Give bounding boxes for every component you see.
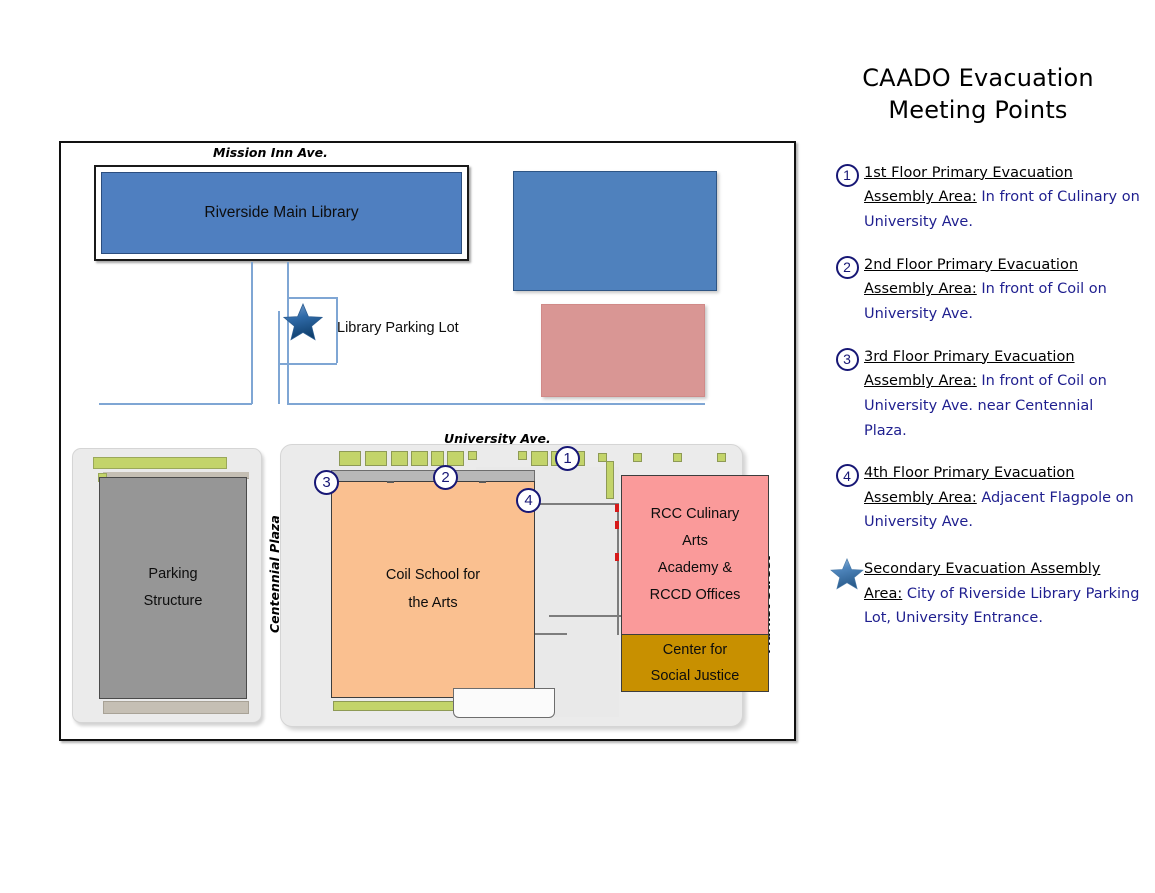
legend-number-2: 2 <box>836 256 859 279</box>
detail-tick <box>615 553 619 561</box>
parking-structure-label-line: Parking <box>148 561 197 588</box>
legend-body: City of Riverside Library Parking Lot, U… <box>864 586 1139 627</box>
planter-small <box>518 451 527 460</box>
library-parking-lot-label: Library Parking Lot <box>337 320 459 336</box>
path-line <box>278 311 280 404</box>
building-center-for-social-justice: Center for Social Justice <box>621 634 769 692</box>
planter-small <box>633 453 642 462</box>
planter-small <box>673 453 682 462</box>
planter-strip <box>411 451 428 466</box>
csj-label-line: Social Justice <box>651 663 740 689</box>
legend-text: 3rd Floor Primary Evacuation Assembly Ar… <box>864 345 1140 444</box>
legend-badge: 3 <box>830 345 864 371</box>
detail-tick <box>479 481 486 483</box>
legend-badge: 1 <box>830 161 864 187</box>
planter-small <box>717 453 726 462</box>
detail-tick <box>615 504 619 512</box>
legend-item-4[interactable]: 4 4th Floor Primary Evacuation Assembly … <box>820 461 1140 535</box>
culinary-label-line: Academy & <box>658 555 732 582</box>
planter-small <box>468 451 477 460</box>
library-label: Riverside Main Library <box>204 204 358 222</box>
legend-badge <box>830 557 864 590</box>
legend-title: CAADO Evacuation Meeting Points <box>820 50 1140 127</box>
courtyard-line <box>549 615 621 617</box>
path-line <box>287 297 337 299</box>
legend-item-2[interactable]: 2 2nd Floor Primary Evacuation Assembly … <box>820 253 1140 327</box>
culinary-label-line: Arts <box>682 528 708 555</box>
planter-strip <box>365 451 387 466</box>
coil-annex <box>453 688 555 718</box>
building-riverside-main-library: Riverside Main Library <box>94 165 469 261</box>
map-marker-1[interactable]: 1 <box>555 446 580 471</box>
legend-title-line: Meeting Points <box>826 94 1130 126</box>
planter-strip <box>531 451 548 466</box>
legend-number-3: 3 <box>836 348 859 371</box>
evacuation-map-page: Mission Inn Ave. Riverside Main Library <box>0 0 1155 893</box>
building-parking-structure: Parking Structure <box>72 448 262 723</box>
culinary-label-line: RCC Culinary <box>651 501 740 528</box>
map-block-blue <box>513 171 717 291</box>
planter-strip <box>447 451 464 466</box>
path-line <box>99 403 252 405</box>
parking-structure-fill: Parking Structure <box>99 477 247 699</box>
planter-strip <box>391 451 408 466</box>
legend-items: 1 1st Floor Primary Evacuation Assembly … <box>820 161 1140 631</box>
building-coil-school-for-the-arts: Coil School for the Arts <box>331 481 535 698</box>
campus-map: Mission Inn Ave. Riverside Main Library <box>59 141 796 741</box>
legend-number-4: 4 <box>836 464 859 487</box>
path-line <box>251 262 253 404</box>
planter-strip <box>333 701 455 711</box>
legend-badge: 2 <box>830 253 864 279</box>
legend-text: 2nd Floor Primary Evacuation Assembly Ar… <box>864 253 1140 327</box>
legend-panel: CAADO Evacuation Meeting Points 1 1st Fl… <box>820 50 1140 850</box>
parking-structure-label-line: Structure <box>144 588 203 615</box>
campus-block: Coil School for the Arts RCC Culinary Ar… <box>280 444 743 727</box>
library-fill: Riverside Main Library <box>101 172 462 254</box>
legend-badge: 4 <box>830 461 864 487</box>
csj-label-line: Center for <box>663 637 727 663</box>
street-label-mission-inn: Mission Inn Ave. <box>213 145 328 160</box>
planter-small <box>606 461 614 499</box>
coil-label-line: the Arts <box>408 590 457 618</box>
planter-strip <box>431 451 444 466</box>
building-rcc-culinary-arts-academy: RCC Culinary Arts Academy & RCCD Offices <box>621 475 769 635</box>
base-edge <box>103 701 249 714</box>
legend-item-secondary[interactable]: Secondary Evacuation Assembly Area: City… <box>820 557 1140 631</box>
detail-tick <box>615 521 619 529</box>
secondary-assembly-star-marker <box>283 303 323 341</box>
legend-text: 4th Floor Primary Evacuation Assembly Ar… <box>864 461 1140 535</box>
legend-text: 1st Floor Primary Evacuation Assembly Ar… <box>864 161 1140 235</box>
map-marker-4[interactable]: 4 <box>516 488 541 513</box>
coil-label-line: Coil School for <box>386 562 480 590</box>
planter-strip <box>339 451 361 466</box>
detail-tick <box>387 481 394 483</box>
map-marker-3[interactable]: 3 <box>314 470 339 495</box>
legend-item-1[interactable]: 1 1st Floor Primary Evacuation Assembly … <box>820 161 1140 235</box>
legend-title-line: CAADO Evacuation <box>826 62 1130 94</box>
planter-strip <box>93 457 227 469</box>
path-line <box>287 403 705 405</box>
legend-item-3[interactable]: 3 3rd Floor Primary Evacuation Assembly … <box>820 345 1140 444</box>
map-block-pink <box>541 304 705 397</box>
legend-text: Secondary Evacuation Assembly Area: City… <box>864 557 1140 631</box>
path-line <box>278 363 337 365</box>
star-icon <box>830 558 864 590</box>
culinary-label-line: RCCD Offices <box>650 582 741 609</box>
map-marker-2[interactable]: 2 <box>433 465 458 490</box>
legend-number-1: 1 <box>836 164 859 187</box>
